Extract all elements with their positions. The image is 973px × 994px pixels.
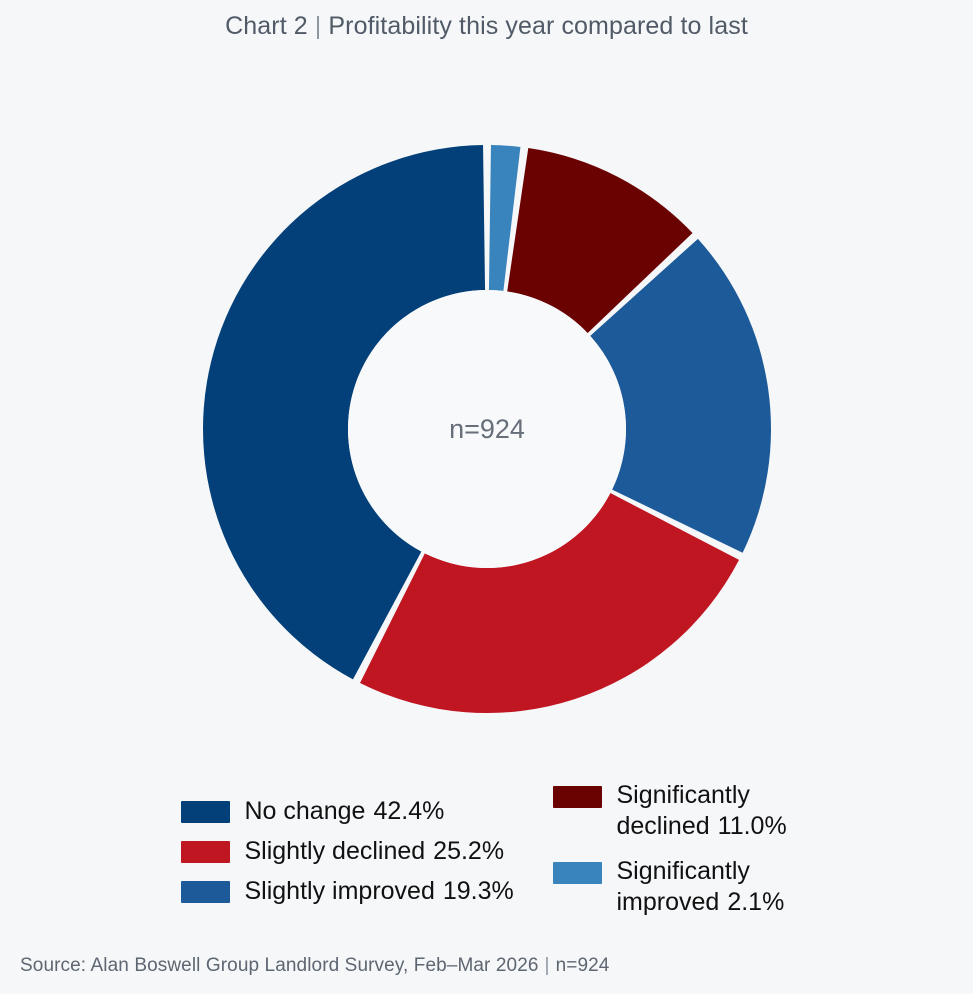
- legend-column-left: No change42.4%Slightly declined25.2%Slig…: [181, 778, 553, 916]
- source-note: Source: Alan Boswell Group Landlord Surv…: [20, 955, 609, 977]
- source-text: Source: Alan Boswell Group Landlord Surv…: [20, 955, 539, 976]
- legend-left-item[interactable]: Slightly declined25.2%: [181, 836, 553, 867]
- legend-right-item[interactable]: Significantly improved2.1%: [553, 856, 793, 918]
- legend-swatch-icon: [181, 841, 230, 863]
- legend-value: 19.3%: [435, 877, 514, 905]
- legend-value: 11.0%: [710, 812, 787, 840]
- legend-swatch-icon: [553, 786, 602, 808]
- donut-chart-svg: Significantly improved 2.1%Significantly…: [167, 122, 807, 737]
- legend-value: 2.1%: [719, 888, 784, 916]
- legend-column-right: Significantly declined11.0%Significantly…: [553, 778, 793, 932]
- legend-swatch-icon: [553, 862, 602, 884]
- legend-label-text: Slightly declined: [245, 837, 426, 865]
- source-sample-size: n=924: [556, 955, 610, 976]
- legend-label-text: No change: [245, 797, 366, 825]
- legend-label: Significantly improved2.1%: [617, 856, 785, 918]
- legend-label: Slightly improved19.3%: [245, 876, 514, 907]
- title-separator: |: [308, 12, 329, 40]
- title-prefix: Chart 2: [225, 12, 308, 40]
- page-title: Chart 2|Profitability this year compared…: [0, 12, 973, 41]
- legend-label: Significantly declined11.0%: [617, 780, 787, 842]
- legend-label-text: Slightly improved: [245, 877, 435, 905]
- legend-swatch-icon: [181, 881, 230, 903]
- legend-label: No change42.4%: [245, 796, 445, 827]
- legend-left-item[interactable]: Slightly improved19.3%: [181, 876, 553, 907]
- legend-label: Slightly declined25.2%: [245, 836, 505, 867]
- legend-value: 42.4%: [365, 797, 444, 825]
- donut-center-label: n=924: [449, 414, 525, 444]
- legend-value: 25.2%: [425, 837, 504, 865]
- legend-swatch-icon: [181, 801, 230, 823]
- legend-left-item[interactable]: No change42.4%: [181, 796, 553, 827]
- chart-legend: No change42.4%Slightly declined25.2%Slig…: [0, 778, 973, 908]
- donut-chart: Significantly improved 2.1%Significantly…: [0, 122, 973, 737]
- title-text: Profitability this year compared to last: [328, 12, 747, 40]
- chart-page: Chart 2|Profitability this year compared…: [0, 0, 973, 994]
- source-separator: |: [539, 955, 556, 976]
- legend-right-item[interactable]: Significantly declined11.0%: [553, 780, 793, 842]
